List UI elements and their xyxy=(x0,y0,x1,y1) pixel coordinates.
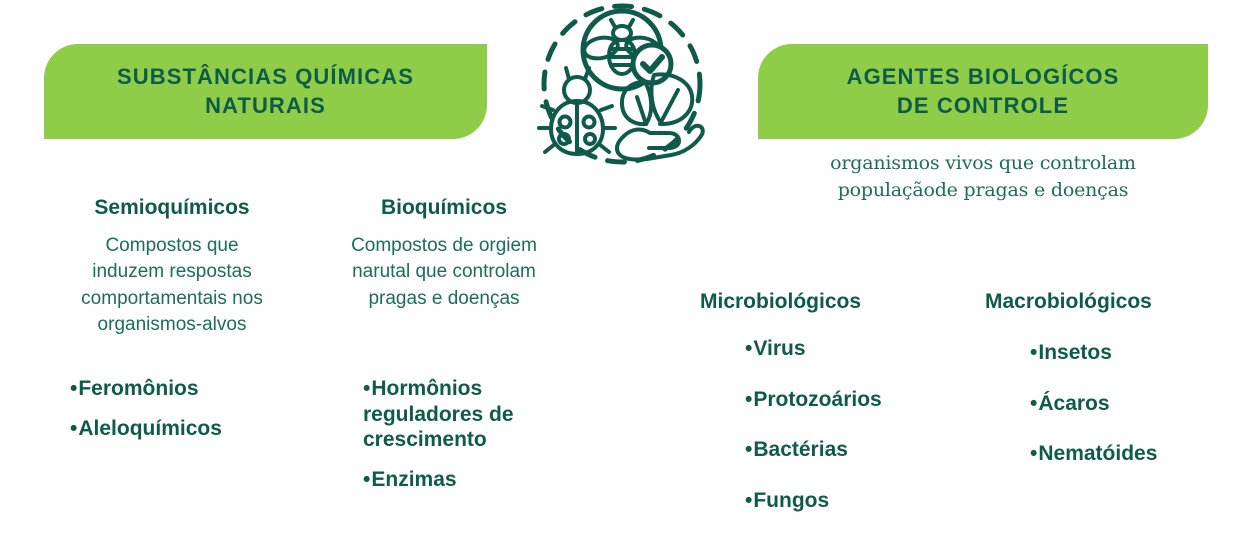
column-macrobiologicos: Macrobiológicos xyxy=(985,290,1235,313)
list-item: Bactérias xyxy=(745,437,975,463)
column-heading-bioquimicos: Bioquímicos xyxy=(318,196,570,219)
banner-agentes-biologicos-de-controle: AGENTES BIOLOGÍCOS DE CONTROLE xyxy=(758,44,1208,139)
column-heading-semioquimicos: Semioquímicos xyxy=(46,196,298,219)
column-heading-macrobiologicos: Macrobiológicos xyxy=(985,290,1235,313)
hand-holding-leaves-icon xyxy=(617,74,703,159)
list-item: Feromônios xyxy=(70,376,320,402)
banner-substancias-quimicas-naturais: SUBSTÂNCIAS QUÍMICAS NATURAIS xyxy=(44,44,487,139)
list-item: Nematóides xyxy=(1030,441,1252,467)
bee-approved-icon xyxy=(582,11,671,89)
list-item: Protozoários xyxy=(745,387,975,413)
bullet-list-macrobiologicos: Insetos Ácaros Nematóides xyxy=(1030,340,1252,481)
ladybug-icon xyxy=(539,68,615,154)
list-item: Aleloquímicos xyxy=(70,416,320,442)
bullet-list-microbiologicos: Virus Protozoários Bactérias Fungos xyxy=(745,336,975,527)
list-item: Ácaros xyxy=(1030,391,1252,417)
list-item: Enzimas xyxy=(363,467,578,493)
list-item: Fungos xyxy=(745,488,975,514)
column-semioquimicos: Semioquímicos Compostos que induzem resp… xyxy=(46,196,298,338)
column-description-semioquimicos: Compostos que induzem respostas comporta… xyxy=(46,233,298,338)
list-item: Virus xyxy=(745,336,975,362)
bullet-list-semioquimicos: Feromônios Aleloquímicos xyxy=(70,376,320,455)
banner-left-title: SUBSTÂNCIAS QUÍMICAS NATURAIS xyxy=(117,63,414,120)
column-microbiologicos: Microbiológicos xyxy=(700,290,940,313)
column-bioquimicos: Bioquímicos Compostos de orgiem narutal … xyxy=(318,196,570,312)
right-subtitle: organismos vivos que controlam população… xyxy=(758,150,1208,204)
biological-control-icon xyxy=(529,2,715,166)
column-heading-microbiologicos: Microbiológicos xyxy=(700,290,940,313)
list-item: Hormônios reguladores de crescimento xyxy=(363,376,578,453)
column-description-bioquimicos: Compostos de orgiem narutal que controla… xyxy=(318,233,570,312)
bullet-list-bioquimicos: Hormônios reguladores de crescimento Enz… xyxy=(363,376,578,506)
list-item: Insetos xyxy=(1030,340,1252,366)
banner-right-title: AGENTES BIOLOGÍCOS DE CONTROLE xyxy=(847,63,1120,120)
